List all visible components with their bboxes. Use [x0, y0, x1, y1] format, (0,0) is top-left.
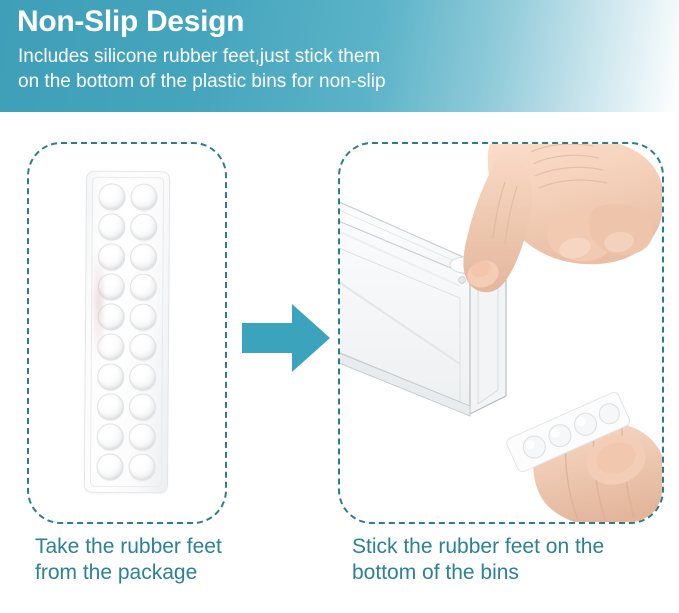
hand-pressing-foot-image	[435, 144, 662, 318]
header-banner: Non-Slip Design Includes silicone rubber…	[0, 0, 679, 112]
rubber-foot-cell	[127, 363, 159, 392]
rubber-foot-cell	[127, 272, 159, 301]
rubber-foot-cell	[127, 302, 159, 331]
rubber-foot-cell	[127, 242, 159, 271]
page-title: Non-Slip Design	[17, 4, 244, 40]
hand-holding-strip-image	[488, 372, 662, 522]
panel-left	[27, 142, 227, 524]
header-subtitle-line-1: Includes silicone rubber feet,just stick…	[18, 44, 380, 69]
panel-right-inner	[340, 144, 662, 522]
rubber-foot-cell	[127, 333, 159, 362]
rubber-foot-cell	[94, 453, 126, 482]
rubber-foot-cell	[94, 392, 126, 421]
blister-pack-image	[85, 172, 169, 493]
rubber-feet-grid	[94, 182, 160, 482]
rubber-foot-cell	[96, 182, 128, 211]
rubber-foot-cell	[126, 453, 158, 482]
rubber-foot-cell	[126, 393, 158, 422]
rubber-foot-cell	[94, 423, 126, 452]
panel-left-inner	[29, 144, 225, 522]
rubber-foot-cell	[95, 362, 127, 391]
header-subtitle-line-2: on the bottom of the plastic bins for no…	[18, 69, 386, 94]
caption-right: Stick the rubber feet on the bottom of t…	[352, 534, 662, 586]
caption-left: Take the rubber feet from the package	[35, 534, 265, 586]
infographic-root: Non-Slip Design Includes silicone rubber…	[0, 0, 679, 613]
rubber-foot-cell	[96, 212, 128, 241]
rubber-foot-cell	[128, 212, 160, 241]
rubber-foot-cell	[95, 332, 127, 361]
rubber-foot-cell	[126, 423, 158, 452]
rubber-foot-cell	[128, 182, 160, 211]
rubber-foot-cell	[95, 302, 127, 331]
panel-right	[338, 142, 664, 524]
rubber-foot-cell	[95, 242, 127, 271]
rubber-foot-cell	[95, 272, 127, 301]
arrow-right-icon	[240, 300, 332, 376]
